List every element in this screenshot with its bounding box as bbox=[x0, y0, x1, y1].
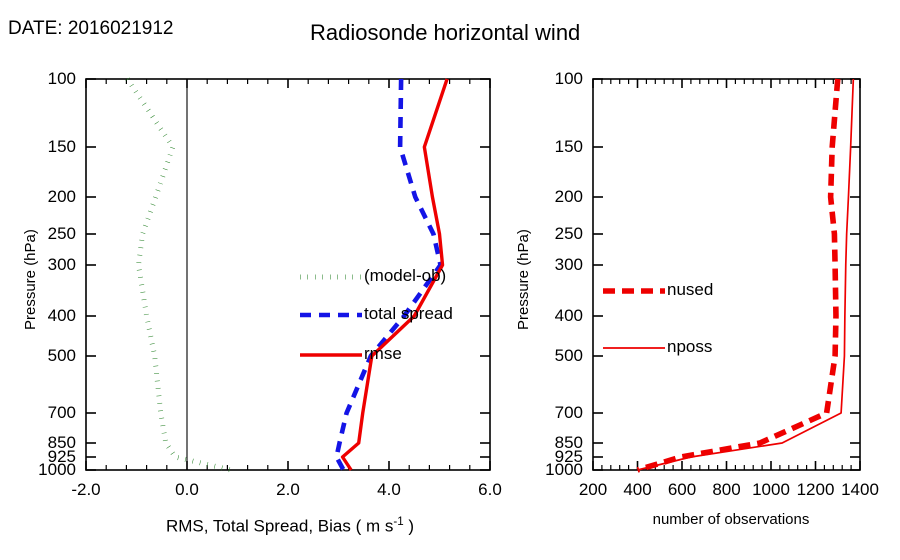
right-legend-label-nposs: nposs bbox=[667, 337, 712, 357]
right-y-tick-label: 1000 bbox=[513, 460, 583, 480]
right-legend-label-nused: nused bbox=[667, 280, 713, 300]
right-y-tick-label: 200 bbox=[513, 187, 583, 207]
right-y-tick-label: 700 bbox=[513, 403, 583, 423]
right-y-tick-label: 500 bbox=[513, 346, 583, 366]
left-y-tick-label: 700 bbox=[6, 403, 76, 423]
page-title: Radiosonde horizontal wind bbox=[310, 20, 580, 46]
left-y-tick-label: 100 bbox=[6, 69, 76, 89]
left-y-tick-label: 500 bbox=[6, 346, 76, 366]
plot-area bbox=[0, 0, 900, 560]
left-y-tick-label: 150 bbox=[6, 137, 76, 157]
left-x-axis-title: RMS, Total Spread, Bias ( m s-1 ) bbox=[120, 516, 460, 537]
right-y-tick-label: 150 bbox=[513, 137, 583, 157]
date-label: DATE: 2016021912 bbox=[8, 18, 174, 40]
left-y-tick-label: 1000 bbox=[6, 460, 76, 480]
left-y-tick-label: 200 bbox=[6, 187, 76, 207]
right-plot-frame bbox=[593, 79, 860, 470]
left-y-tick-label: 250 bbox=[6, 224, 76, 244]
right-y-tick-label: 300 bbox=[513, 255, 583, 275]
left-x-axis-title-tail: ) bbox=[404, 517, 414, 536]
right-series-nused bbox=[638, 79, 838, 470]
right-y-tick-label: 400 bbox=[513, 306, 583, 326]
right-x-tick-label: 1400 bbox=[820, 480, 900, 500]
left-legend-label-modelob: (model-ob) bbox=[364, 266, 446, 286]
left-series-modelob bbox=[127, 79, 231, 470]
left-x-tick-label: -2.0 bbox=[46, 480, 126, 500]
right-y-tick-label: 100 bbox=[513, 69, 583, 89]
right-series-nposs bbox=[638, 79, 854, 470]
left-x-axis-title-exponent: -1 bbox=[393, 516, 403, 528]
left-x-tick-label: 0.0 bbox=[147, 480, 227, 500]
left-x-tick-label: 4.0 bbox=[349, 480, 429, 500]
left-legend-label-rmse: rmse bbox=[364, 344, 402, 364]
left-y-tick-label: 400 bbox=[6, 306, 76, 326]
left-x-axis-title-text: RMS, Total Spread, Bias ( m s bbox=[166, 517, 393, 536]
chart-canvas: DATE: 2016021912 Radiosonde horizontal w… bbox=[0, 0, 900, 560]
left-y-tick-label: 300 bbox=[6, 255, 76, 275]
right-x-axis-title: number of observations bbox=[606, 511, 856, 528]
left-x-tick-label: 2.0 bbox=[248, 480, 328, 500]
left-legend-label-totalspread: total spread bbox=[364, 304, 453, 324]
right-y-tick-label: 250 bbox=[513, 224, 583, 244]
left-x-tick-label: 6.0 bbox=[450, 480, 530, 500]
